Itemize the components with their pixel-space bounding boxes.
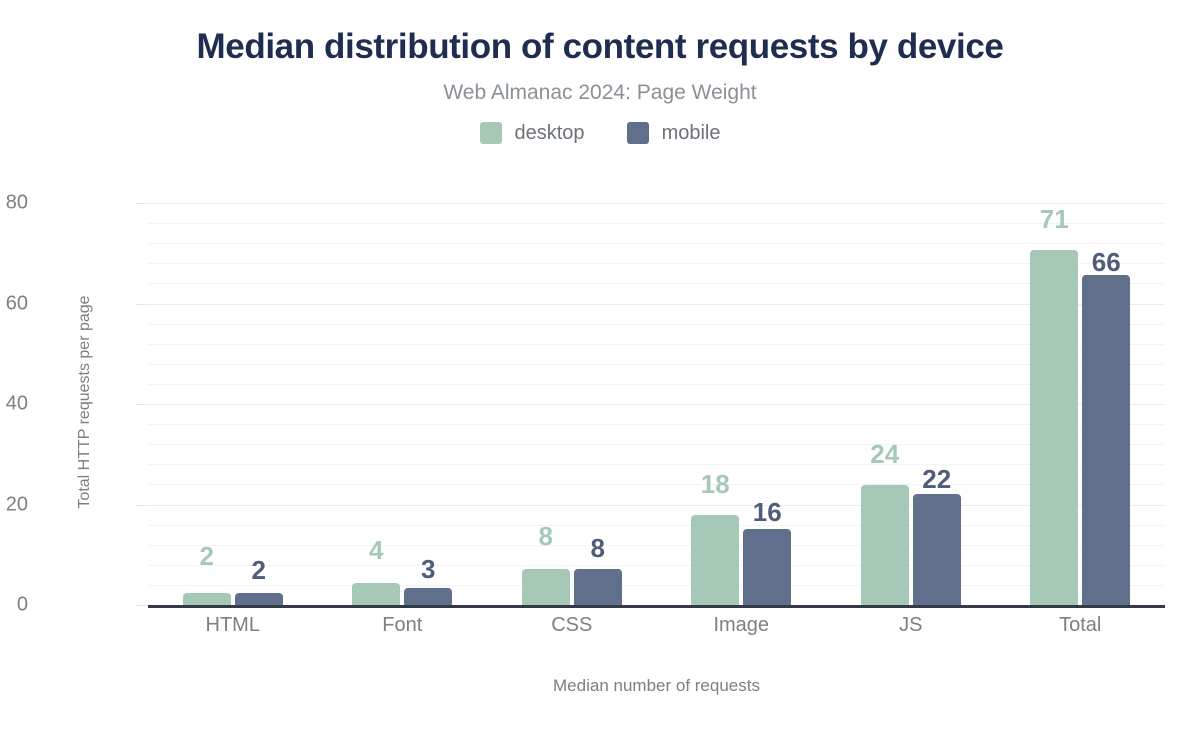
bar-column-desktop-js: 24 [861,203,909,605]
x-axis-labels: HTMLFontCSSImageJSTotal [148,614,1165,637]
bar-mobile[interactable] [404,588,452,605]
gridline [148,404,1165,405]
bar-value-label: 24 [870,441,899,467]
gridline [148,283,1165,284]
legend-item-desktop[interactable]: desktop [480,122,585,145]
y-tick-mark [136,605,148,606]
gridline [148,525,1165,526]
gridline [148,545,1165,546]
plot-gridlines [148,203,1165,605]
bar-value-label: 18 [701,471,730,497]
bar-column-desktop-font: 4 [352,203,400,605]
bar-mobile[interactable] [913,494,961,605]
bar-mobile[interactable] [235,593,283,605]
gridline [148,243,1165,244]
chart-title: Median distribution of content requests … [0,28,1200,67]
gridline [148,344,1165,345]
x-axis-label-js: JS [826,614,996,637]
y-axis-title-host: Total HTTP requests per page [47,200,69,606]
gridline [148,505,1165,506]
bar-value-label: 4 [369,537,383,563]
bar-column-desktop-total: 71 [1030,203,1078,605]
bar-desktop[interactable] [691,515,739,605]
bar-groups: 224388181624227166 [148,203,1165,605]
x-axis-label-font: Font [318,614,488,637]
bar-mobile[interactable] [574,569,622,605]
x-axis-line [148,605,1165,608]
chart-subtitle: Web Almanac 2024: Page Weight [0,81,1200,104]
legend-label-mobile: mobile [662,122,721,145]
gridline [148,444,1165,445]
gridline [148,585,1165,586]
bar-desktop[interactable] [522,569,570,605]
bar-value-label: 8 [539,523,553,549]
chart-header: Median distribution of content requests … [0,0,1200,145]
x-axis-label-total: Total [996,614,1166,637]
y-tick-mark [136,304,148,305]
bar-mobile[interactable] [743,529,791,605]
bar-group-js: 2422 [826,203,996,605]
bar-column-mobile-image: 16 [743,203,791,605]
x-axis-label-image: Image [657,614,827,637]
gridline [148,565,1165,566]
x-axis-label-css: CSS [487,614,657,637]
bar-column-mobile-css: 8 [574,203,622,605]
bar-value-label: 2 [252,557,266,583]
bar-group-html: 22 [148,203,318,605]
y-tick-label: 0 [0,594,28,617]
bar-value-label: 3 [421,556,435,582]
bar-value-label: 8 [591,535,605,561]
bar-value-label: 16 [753,499,782,525]
y-tick-mark [136,505,148,506]
bar-group-image: 1816 [657,203,827,605]
bar-mobile[interactable] [1082,275,1130,605]
bar-desktop[interactable] [861,485,909,605]
gridline [148,263,1165,264]
gridline [148,304,1165,305]
y-tick-label: 40 [0,393,28,416]
bar-column-mobile-js: 22 [913,203,961,605]
legend-swatch-mobile [627,122,649,144]
bar-value-label: 22 [922,466,951,492]
gridline [148,424,1165,425]
bar-column-mobile-total: 66 [1082,203,1130,605]
bar-column-mobile-html: 2 [235,203,283,605]
legend-label-desktop: desktop [515,122,585,145]
legend-swatch-desktop [480,122,502,144]
bar-desktop[interactable] [1030,250,1078,605]
bar-column-desktop-css: 8 [522,203,570,605]
y-tick-mark [136,203,148,204]
y-axis-title: Total HTTP requests per page [76,222,94,582]
bar-group-css: 88 [487,203,657,605]
bar-value-label: 66 [1092,249,1121,275]
bar-desktop[interactable] [352,583,400,605]
bar-column-desktop-image: 18 [691,203,739,605]
gridline [148,384,1165,385]
gridline [148,464,1165,465]
bar-group-font: 43 [318,203,488,605]
gridline [148,324,1165,325]
bar-column-desktop-html: 2 [183,203,231,605]
bar-column-mobile-font: 3 [404,203,452,605]
x-axis-label-html: HTML [148,614,318,637]
x-axis-title: Median number of requests [148,676,1165,696]
chart-legend: desktopmobile [0,122,1200,145]
y-tick-label: 20 [0,493,28,516]
bar-value-label: 2 [200,543,214,569]
bar-value-label: 71 [1040,206,1069,232]
bar-group-total: 7166 [996,203,1166,605]
gridline [148,364,1165,365]
y-tick-label: 60 [0,292,28,315]
bar-desktop[interactable] [183,593,231,605]
gridline [148,484,1165,485]
gridline [148,223,1165,224]
y-tick-mark [136,404,148,405]
y-tick-label: 80 [0,192,28,215]
legend-item-mobile[interactable]: mobile [627,122,721,145]
gridline [148,203,1165,204]
